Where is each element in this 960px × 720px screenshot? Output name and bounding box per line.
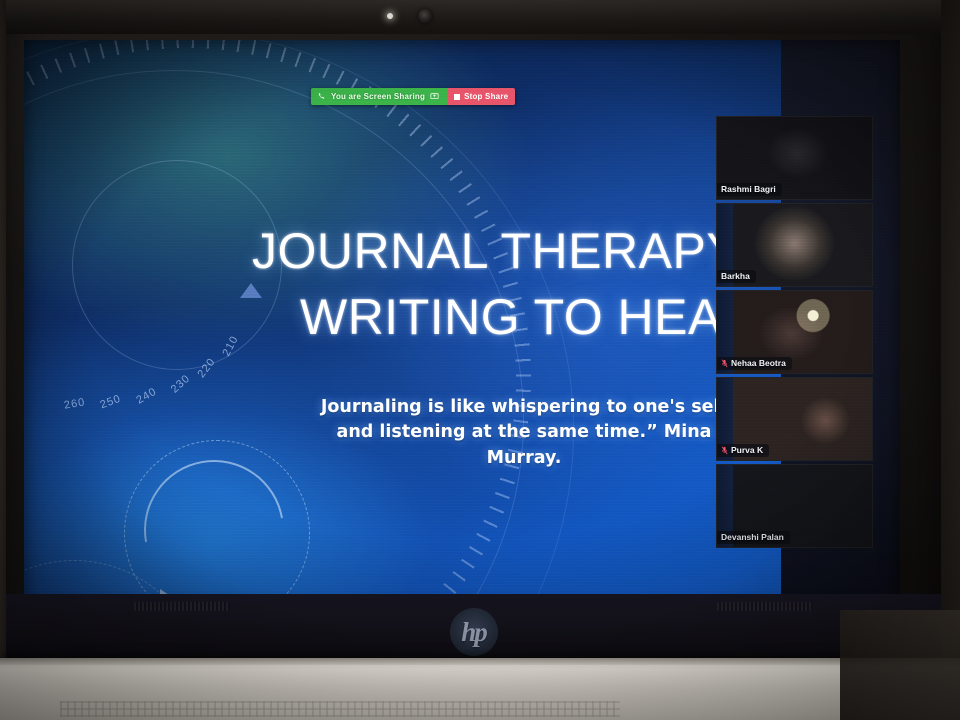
participant-namebar: Barkha — [717, 270, 756, 283]
slide-title: JOURNAL THERAPY WRITING TO HEAL — [252, 218, 781, 350]
decorative-circle-small — [72, 160, 282, 370]
speaker-perforations — [60, 701, 620, 717]
slide-title-line2: WRITING TO HEAL — [252, 284, 781, 350]
participant-namebar: Devanshi Palan — [717, 531, 790, 544]
participant-namebar: Rashmi Bagri — [717, 183, 782, 196]
stop-share-button[interactable]: Stop Share — [447, 88, 515, 105]
stop-share-label: Stop Share — [464, 92, 508, 101]
phone-icon — [317, 92, 326, 101]
participant-namebar: Nehaa Beotra — [717, 357, 792, 370]
speaker-grille-left — [134, 602, 230, 611]
participant-filmstrip[interactable]: Rashmi Bagri Barkha — [716, 116, 873, 548]
participant-name: Rashmi Bagri — [721, 184, 776, 194]
participant-namebar: Purva K — [717, 444, 769, 457]
webcam-icon — [418, 9, 432, 23]
participant-name: Barkha — [721, 271, 750, 281]
mic-muted-icon — [721, 446, 728, 455]
laptop-lid: 210 220 230 240 250 260 JOURNAL THERAPY … — [6, 0, 941, 660]
desk-corner-shadow — [840, 610, 960, 720]
stop-square-icon — [454, 94, 460, 100]
participant-tile[interactable]: Rashmi Bagri — [716, 116, 873, 200]
mic-muted-icon — [721, 359, 728, 368]
participant-name: Devanshi Palan — [721, 532, 784, 542]
slide-quote-lead: Journaling — [321, 397, 422, 417]
laptop-screen: 210 220 230 240 250 260 JOURNAL THERAPY … — [24, 40, 900, 612]
shared-presentation-slide: 210 220 230 240 250 260 JOURNAL THERAPY … — [24, 40, 781, 612]
participant-tile[interactable]: Barkha — [716, 203, 873, 287]
laptop-hinge-edge — [0, 658, 960, 665]
screen-share-icon — [430, 92, 439, 101]
participant-tile[interactable]: Devanshi Palan — [716, 464, 873, 548]
laptop-bottom-bezel: hp — [6, 594, 941, 660]
slide-title-line1: JOURNAL THERAPY — [252, 223, 740, 279]
sharing-status-label: You are Screen Sharing — [331, 92, 425, 101]
laptop-top-bezel — [6, 0, 941, 34]
camera-led-icon — [387, 13, 393, 19]
participant-name: Nehaa Beotra — [731, 358, 786, 368]
speaker-grille-right — [717, 602, 813, 611]
participant-name: Purva K — [731, 445, 763, 455]
laptop-photo: 210 220 230 240 250 260 JOURNAL THERAPY … — [0, 0, 960, 720]
hp-logo: hp — [450, 608, 498, 656]
laptop-base — [0, 658, 960, 720]
screen-share-bar[interactable]: You are Screen Sharing Stop Share — [311, 88, 515, 105]
participant-tile[interactable]: Nehaa Beotra — [716, 290, 873, 374]
sharing-status: You are Screen Sharing — [311, 88, 447, 105]
participant-tile[interactable]: Purva K — [716, 377, 873, 461]
slide-quote: Journaling is like whispering to one's s… — [309, 395, 739, 471]
hp-logo-text: hp — [461, 617, 486, 648]
